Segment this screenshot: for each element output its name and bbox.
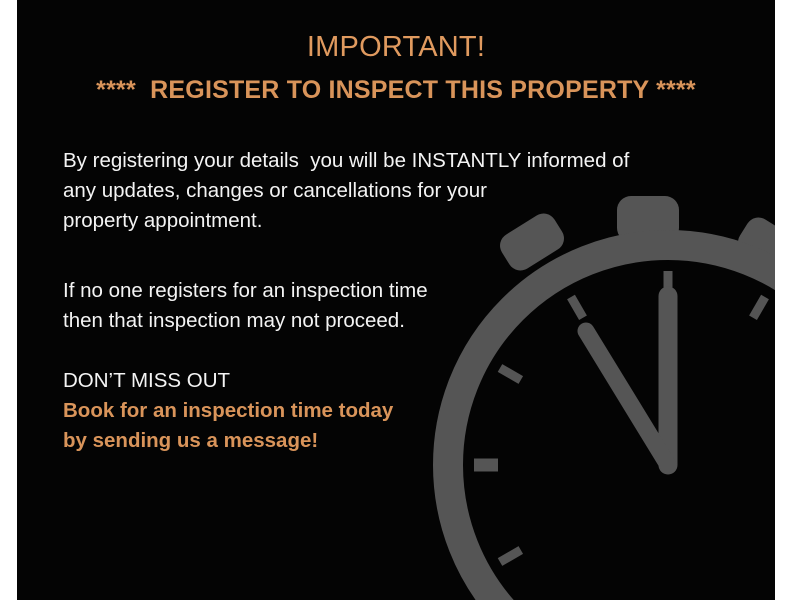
poster-canvas: IMPORTANT! **** REGISTER TO INSPECT THIS…	[0, 0, 800, 600]
clock-right-button	[733, 213, 775, 280]
body-paragraph-registering: By registering your details you will be …	[63, 146, 629, 236]
cta-book-inspection: Book for an inspection time today by sen…	[63, 396, 393, 456]
headline-important: IMPORTANT!	[17, 31, 775, 64]
clock-hour-hand	[586, 331, 668, 465]
clock-tick-marks	[474, 271, 775, 600]
body-paragraph-no-registration: If no one registers for an inspection ti…	[63, 276, 428, 336]
cta-dont-miss-out: DON’T MISS OUT	[63, 366, 230, 396]
poster-panel: IMPORTANT! **** REGISTER TO INSPECT THIS…	[17, 0, 775, 600]
clock-outer-ring	[448, 245, 775, 600]
headline-register: **** REGISTER TO INSPECT THIS PROPERTY *…	[17, 76, 775, 105]
